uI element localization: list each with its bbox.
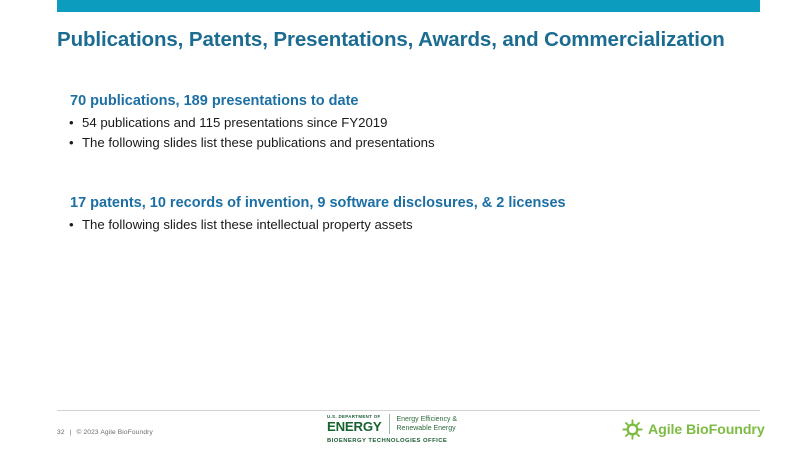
agile-biofoundry-name: Agile BioFoundry (648, 422, 765, 438)
list-item: • The following slides list these public… (57, 133, 757, 153)
page-number: 32 (57, 429, 65, 436)
doe-divider-rule (389, 414, 390, 434)
bullet-icon: • (69, 133, 74, 153)
slide-body: 70 publications, 189 presentations to da… (57, 92, 757, 235)
doe-office-label: BIOENERGY TECHNOLOGIES OFFICE (327, 438, 527, 444)
footer-separator: | (67, 429, 75, 436)
bullet-list: • 54 publications and 115 presentations … (57, 113, 757, 152)
doe-energy-wordmark: ENERGY (327, 420, 382, 434)
doe-eere-line-2: Renewable Energy (397, 424, 458, 433)
content-block-patents: 17 patents, 10 records of invention, 9 s… (57, 194, 757, 235)
page-title: Publications, Patents, Presentations, Aw… (57, 27, 767, 53)
bullet-icon: • (69, 215, 74, 235)
bullet-icon: • (69, 113, 74, 133)
doe-logo-top: U.S. DEPARTMENT OF ENERGY Energy Efficie… (327, 414, 527, 434)
list-item-label: 54 publications and 115 presentations si… (82, 115, 387, 130)
block-heading: 70 publications, 189 presentations to da… (70, 92, 757, 111)
gear-icon (622, 419, 643, 440)
block-heading: 17 patents, 10 records of invention, 9 s… (70, 194, 757, 213)
footer-credit: 32 | © 2023 Agile BioFoundry (57, 429, 153, 436)
content-block-publications: 70 publications, 189 presentations to da… (57, 92, 757, 152)
footer-divider (57, 410, 760, 411)
doe-logo: U.S. DEPARTMENT OF ENERGY Energy Efficie… (327, 414, 527, 444)
doe-eere-line-1: Energy Efficiency & (397, 415, 458, 424)
slide-canvas: Publications, Patents, Presentations, Aw… (0, 0, 800, 450)
doe-wordmark-group: U.S. DEPARTMENT OF ENERGY (327, 414, 389, 434)
bullet-list: • The following slides list these intell… (57, 215, 757, 235)
list-item-label: The following slides list these intellec… (82, 217, 413, 232)
doe-eere-label: Energy Efficiency & Renewable Energy (397, 414, 458, 434)
copyright-text: © 2023 Agile BioFoundry (76, 429, 153, 436)
top-accent-bar (57, 0, 760, 12)
list-item-label: The following slides list these publicat… (82, 135, 435, 150)
agile-biofoundry-logo: Agile BioFoundry (622, 419, 765, 440)
list-item: • 54 publications and 115 presentations … (57, 113, 757, 133)
list-item: • The following slides list these intell… (57, 215, 757, 235)
